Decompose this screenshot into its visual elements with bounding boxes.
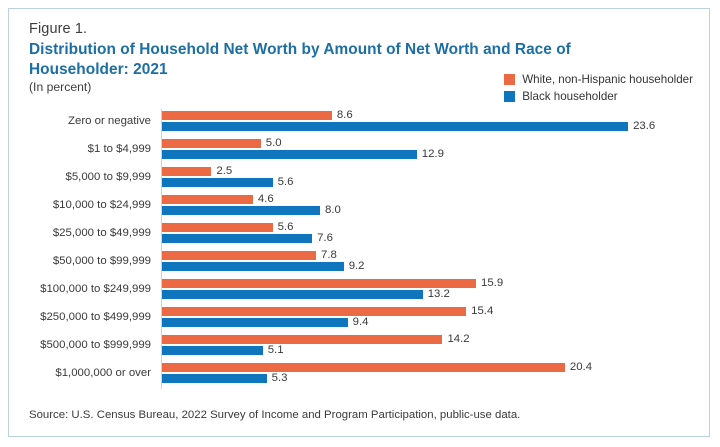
legend-swatch-black <box>504 91 515 102</box>
chart-row: $5,000 to $9,9992.55.6 <box>9 163 710 191</box>
bar-rect <box>162 223 273 232</box>
chart-row: $1 to $4,9995.012.9 <box>9 135 710 163</box>
bar-value-label: 13.2 <box>428 290 450 299</box>
bar-rect <box>162 111 332 120</box>
bar-rect <box>162 122 628 131</box>
bar-white-non-hispanic: 5.6 <box>162 223 293 232</box>
category-label: $1 to $4,999 <box>9 135 151 163</box>
chart-row: $100,000 to $249,99915.913.2 <box>9 275 710 303</box>
bar-black: 8.0 <box>162 206 341 215</box>
bar-value-label: 12.9 <box>422 150 444 159</box>
bar-rect <box>162 150 417 159</box>
category-label: $25,000 to $49,999 <box>9 219 151 247</box>
bar-white-non-hispanic: 7.8 <box>162 251 337 260</box>
bar-value-label: 9.2 <box>349 262 365 271</box>
bar-rect <box>162 307 466 316</box>
chart-row: $10,000 to $24,9994.68.0 <box>9 191 710 219</box>
legend-label-white-non-hispanic: White, non-Hispanic householder <box>522 73 693 86</box>
bar-rect <box>162 374 267 383</box>
legend-label-black: Black householder <box>522 90 617 103</box>
bar-value-label: 15.9 <box>481 279 503 288</box>
category-label: $500,000 to $999,999 <box>9 331 151 359</box>
bar-value-label: 4.6 <box>258 195 274 204</box>
bar-rect <box>162 279 476 288</box>
bar-value-label: 7.6 <box>317 234 333 243</box>
figure-number: Figure 1. <box>29 21 87 37</box>
bar-black: 5.6 <box>162 178 293 187</box>
bar-rect <box>162 262 344 271</box>
legend-swatch-white-non-hispanic <box>504 74 515 85</box>
bar-white-non-hispanic: 14.2 <box>162 335 470 344</box>
bar-white-non-hispanic: 20.4 <box>162 363 592 372</box>
bar-value-label: 14.2 <box>447 335 469 344</box>
bar-white-non-hispanic: 2.5 <box>162 167 232 176</box>
bar-value-label: 5.6 <box>278 178 294 187</box>
source-note: Source: U.S. Census Bureau, 2022 Survey … <box>29 409 520 421</box>
category-label: $1,000,000 or over <box>9 359 151 387</box>
bar-value-label: 8.0 <box>325 206 341 215</box>
bar-value-label: 2.5 <box>216 167 232 176</box>
legend-item-white-non-hispanic: White, non-Hispanic householder <box>504 72 693 87</box>
bar-value-label: 7.8 <box>321 251 337 260</box>
chart-row: $1,000,000 or over20.45.3 <box>9 359 710 387</box>
bar-value-label: 5.1 <box>268 346 284 355</box>
chart-row: $500,000 to $999,99914.25.1 <box>9 331 710 359</box>
bar-value-label: 5.0 <box>266 139 282 148</box>
bar-rect <box>162 290 423 299</box>
legend-item-black: Black householder <box>504 89 693 104</box>
category-label: $100,000 to $249,999 <box>9 275 151 303</box>
chart-row: $250,000 to $499,99915.49.4 <box>9 303 710 331</box>
bar-rect <box>162 363 565 372</box>
bar-value-label: 5.6 <box>278 223 294 232</box>
bar-rect <box>162 206 320 215</box>
bar-rect <box>162 139 261 148</box>
bar-rect <box>162 251 316 260</box>
bar-black: 7.6 <box>162 234 333 243</box>
bar-black: 13.2 <box>162 290 450 299</box>
bar-rect <box>162 195 253 204</box>
figure-units-subtitle: (In percent) <box>29 80 91 94</box>
bar-black: 5.3 <box>162 374 288 383</box>
chart-row: $25,000 to $49,9995.67.6 <box>9 219 710 247</box>
bar-black: 5.1 <box>162 346 284 355</box>
chart-row: $50,000 to $99,9997.89.2 <box>9 247 710 275</box>
bar-rect <box>162 318 348 327</box>
bar-rect <box>162 178 273 187</box>
bar-value-label: 15.4 <box>471 307 493 316</box>
bar-rect <box>162 335 442 344</box>
bar-value-label: 8.6 <box>337 111 353 120</box>
bar-rect <box>162 234 312 243</box>
category-label: Zero or negative <box>9 107 151 135</box>
bar-value-label: 20.4 <box>570 363 592 372</box>
bar-black: 12.9 <box>162 150 444 159</box>
bar-rect <box>162 167 211 176</box>
bar-white-non-hispanic: 15.9 <box>162 279 503 288</box>
bar-rect <box>162 346 263 355</box>
category-label: $5,000 to $9,999 <box>9 163 151 191</box>
category-label: $250,000 to $499,999 <box>9 303 151 331</box>
bar-value-label: 5.3 <box>272 374 288 383</box>
source-divider <box>29 401 691 402</box>
bar-value-label: 9.4 <box>353 318 369 327</box>
bar-white-non-hispanic: 8.6 <box>162 111 353 120</box>
bar-white-non-hispanic: 15.4 <box>162 307 493 316</box>
category-label: $50,000 to $99,999 <box>9 247 151 275</box>
chart-plot-area: Zero or negative8.623.6$1 to $4,9995.012… <box>9 107 710 391</box>
bar-black: 9.4 <box>162 318 368 327</box>
bar-black: 9.2 <box>162 262 365 271</box>
category-label: $10,000 to $24,999 <box>9 191 151 219</box>
bar-value-label: 23.6 <box>633 122 655 131</box>
chart-legend: White, non-Hispanic householder Black ho… <box>504 72 693 104</box>
chart-row: Zero or negative8.623.6 <box>9 107 710 135</box>
bar-black: 23.6 <box>162 122 655 131</box>
bar-white-non-hispanic: 4.6 <box>162 195 274 204</box>
figure-frame: Figure 1. Distribution of Household Net … <box>8 8 710 437</box>
bar-white-non-hispanic: 5.0 <box>162 139 282 148</box>
